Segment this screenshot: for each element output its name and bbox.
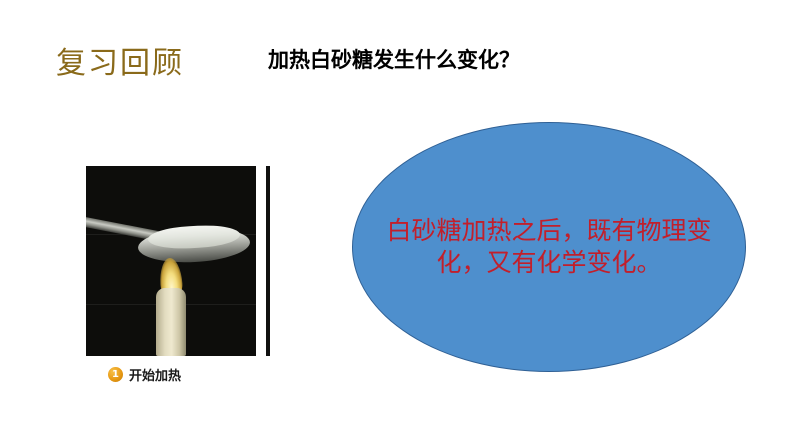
slide-canvas: 复习回顾 加热白砂糖发生什么变化？ 1 开始加热 白砂糖加热之后，既有物理变化，… xyxy=(0,0,794,447)
question-title: 加热白砂糖发生什么变化？ xyxy=(268,44,520,74)
photo-caption: 1 开始加热 xyxy=(108,365,181,384)
caption-label: 开始加热 xyxy=(129,365,181,384)
heating-sugar-photo xyxy=(86,166,256,356)
caption-number-badge: 1 xyxy=(108,367,123,382)
answer-callout-text: 白砂糖加热之后，既有物理变化，又有化学变化。 xyxy=(384,215,714,279)
adjacent-photo-edge xyxy=(266,166,270,356)
answer-callout-ellipse: 白砂糖加热之后，既有物理变化，又有化学变化。 xyxy=(352,122,746,372)
section-title: 复习回顾 xyxy=(56,38,184,82)
photo-block: 1 开始加热 xyxy=(86,166,272,391)
candle-body-shape xyxy=(156,288,186,356)
